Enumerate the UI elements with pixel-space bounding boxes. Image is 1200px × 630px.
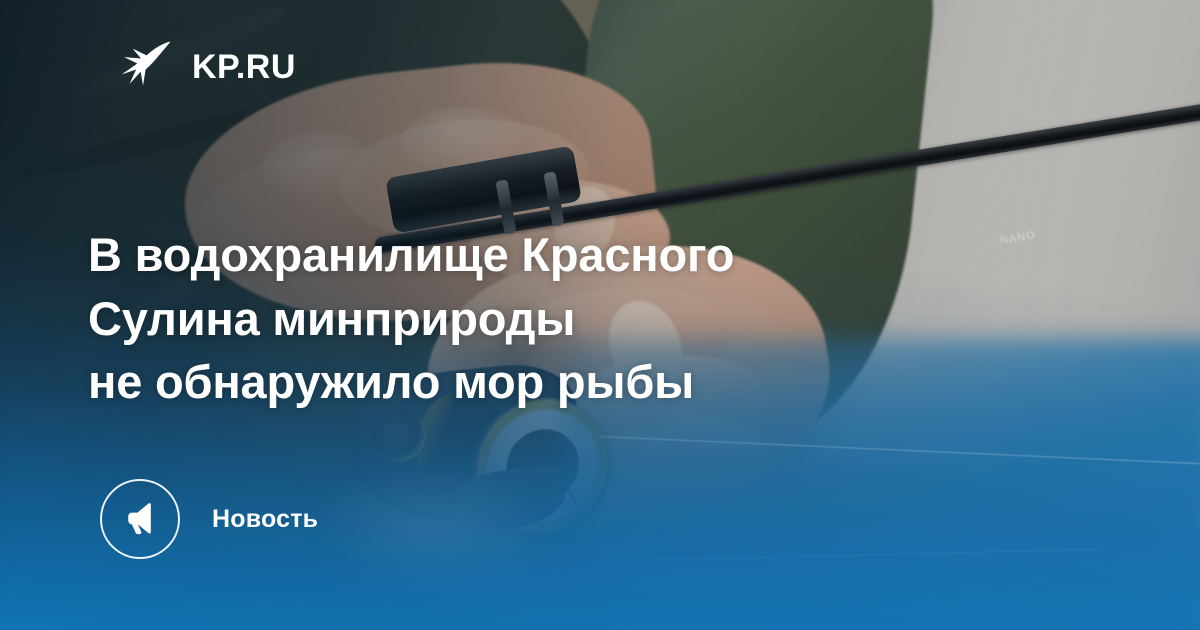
- headline-line-3: не обнаружило мор рыбы: [88, 350, 938, 413]
- megaphone-icon: [100, 479, 180, 559]
- card-content: KP.RU В водохранилище Красного Сулина ми…: [0, 0, 1200, 630]
- brand-header[interactable]: KP.RU: [112, 36, 296, 98]
- headline-line-1: В водохранилище Красного: [88, 223, 938, 286]
- headline-line-2: Сулина минприроды: [88, 287, 938, 350]
- share-card: NANO KP.RU В водохранилище Красного: [0, 0, 1200, 630]
- status-badge: Новость: [100, 479, 318, 559]
- badge-label: Новость: [212, 505, 318, 534]
- brand-name: KP.RU: [192, 50, 296, 84]
- swallow-bird-icon: [112, 36, 174, 98]
- page-title: В водохранилище Красного Сулина минприро…: [88, 223, 938, 413]
